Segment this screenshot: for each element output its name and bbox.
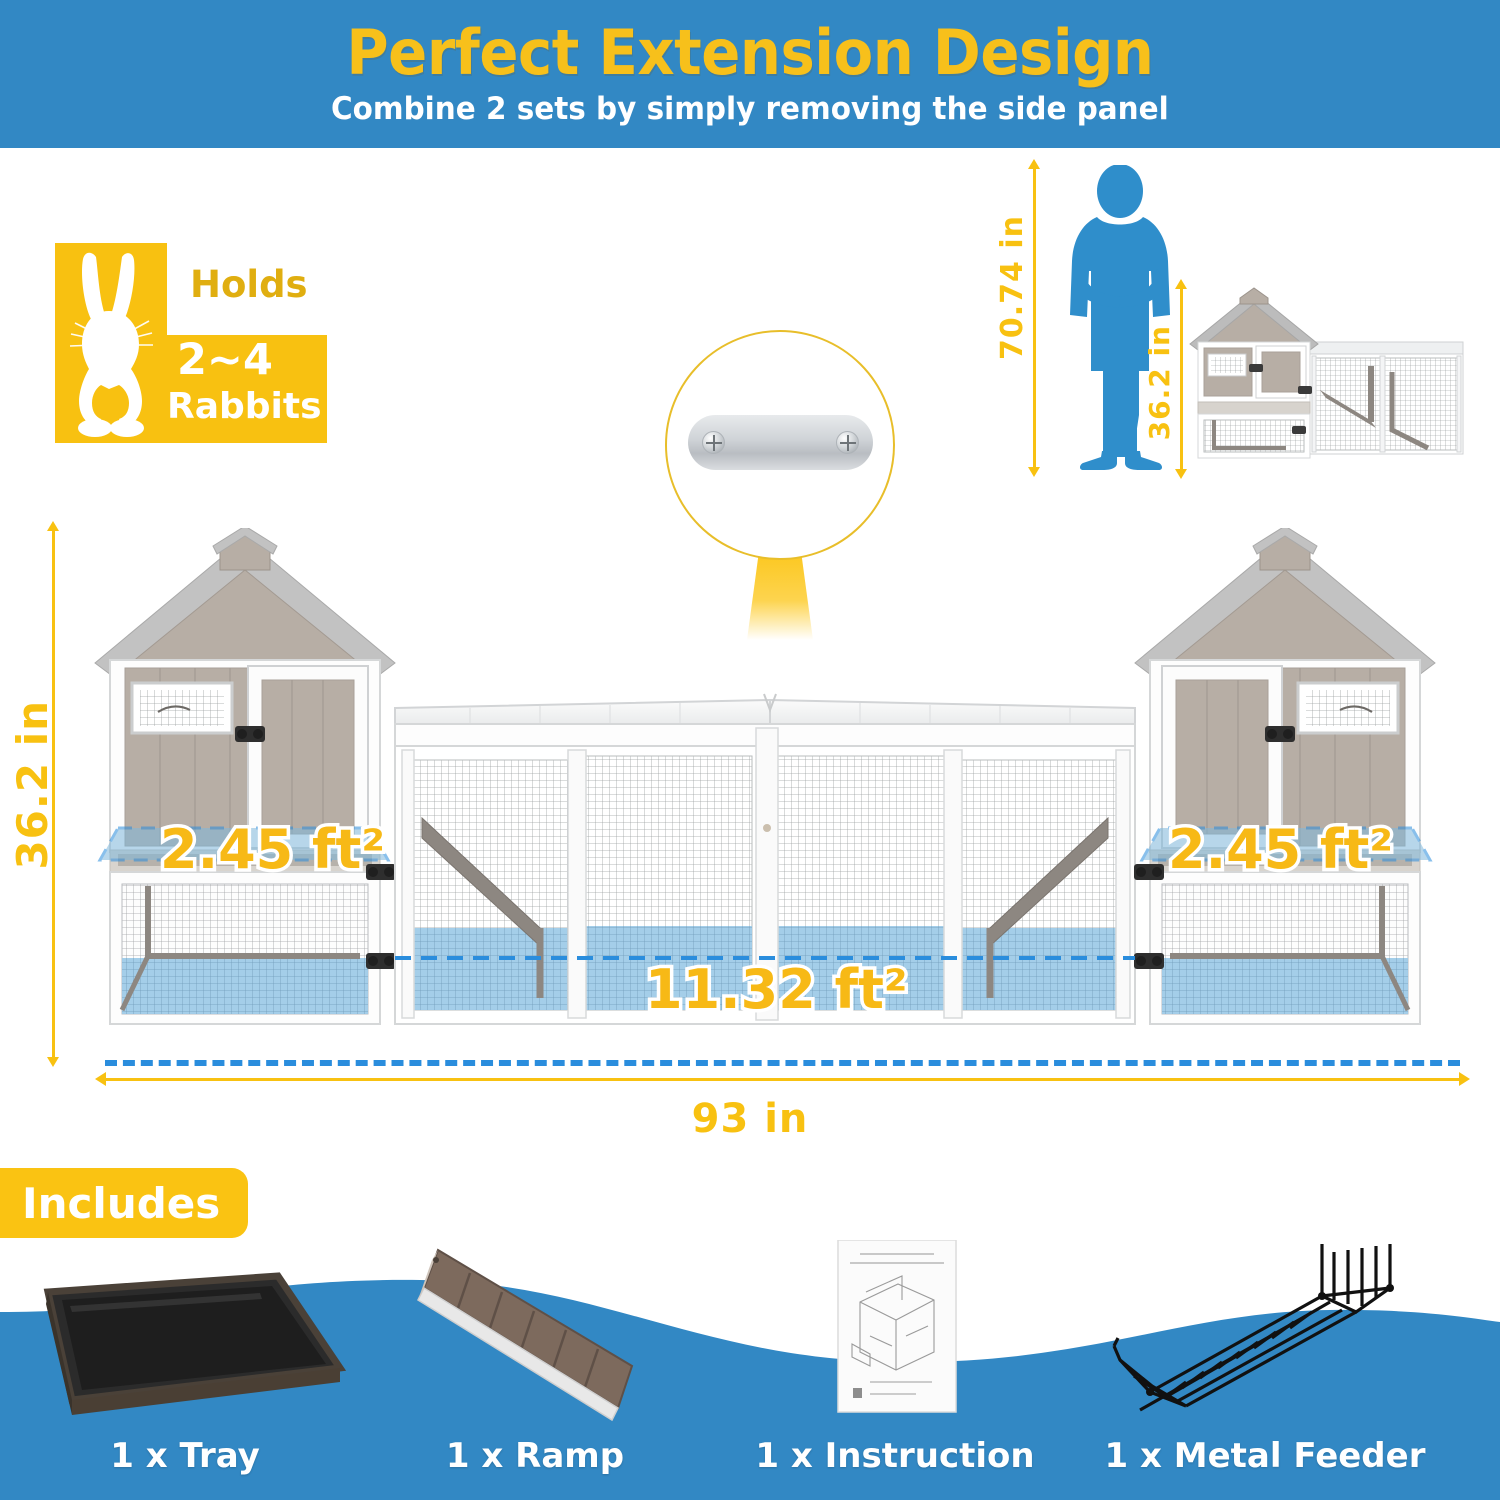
includes-title: Includes bbox=[22, 1179, 220, 1228]
page-title: Perfect Extension Design bbox=[346, 21, 1153, 84]
item-label-ramp: 1 x Ramp bbox=[360, 1436, 710, 1476]
right-hutch bbox=[1134, 528, 1435, 1024]
mini-hutch-photo bbox=[1180, 280, 1490, 480]
instruction-manual-icon bbox=[720, 1240, 1070, 1430]
capacity-unit: Rabbits bbox=[167, 386, 322, 427]
plastic-tray-icon bbox=[10, 1240, 360, 1430]
person-height-label: 70.74 in bbox=[995, 215, 1030, 360]
screw-icon-right bbox=[836, 431, 859, 454]
capacity-count: 2~4 bbox=[177, 339, 273, 382]
holds-label: Holds bbox=[190, 263, 308, 306]
area-label-center: 11.32 ft² bbox=[645, 958, 908, 1021]
capacity-badge: Holds 2~4 Rabbits bbox=[55, 243, 355, 443]
size-comparison-group: 70.74 in 36.2 in bbox=[975, 160, 1495, 490]
left-hutch bbox=[95, 528, 396, 1024]
product-width-label: 93 in bbox=[0, 1096, 1500, 1142]
area-label-left: 2.45 ft² bbox=[160, 818, 385, 881]
footprint-dashed-line bbox=[105, 1060, 1460, 1066]
included-items-row: 1 x Tray 1 x Ramp bbox=[0, 1240, 1500, 1500]
page-subtitle: Combine 2 sets by simply removing the si… bbox=[331, 91, 1169, 127]
item-label-tray: 1 x Tray bbox=[10, 1436, 360, 1476]
item-label-feeder: 1 x Metal Feeder bbox=[1090, 1436, 1440, 1476]
includes-badge: Includes bbox=[0, 1168, 248, 1238]
header-banner: Perfect Extension Design Combine 2 sets … bbox=[0, 0, 1500, 148]
rabbit-silhouette-icon bbox=[65, 249, 165, 437]
item-label-instruction: 1 x Instruction bbox=[720, 1436, 1070, 1476]
person-height-arrow bbox=[1033, 168, 1036, 468]
wooden-ramp-icon bbox=[360, 1240, 710, 1430]
area-label-right: 2.45 ft² bbox=[1168, 818, 1393, 881]
infographic-page: Perfect Extension Design Combine 2 sets … bbox=[0, 0, 1500, 1500]
metal-hay-feeder-icon bbox=[1090, 1240, 1440, 1430]
hutch-height-label: 36.2 in bbox=[1143, 325, 1176, 440]
product-width-arrow bbox=[105, 1078, 1460, 1081]
product-height-label: 36.2 in bbox=[8, 700, 57, 870]
screw-icon-left bbox=[702, 431, 725, 454]
metal-connector-plate-icon bbox=[688, 415, 873, 470]
